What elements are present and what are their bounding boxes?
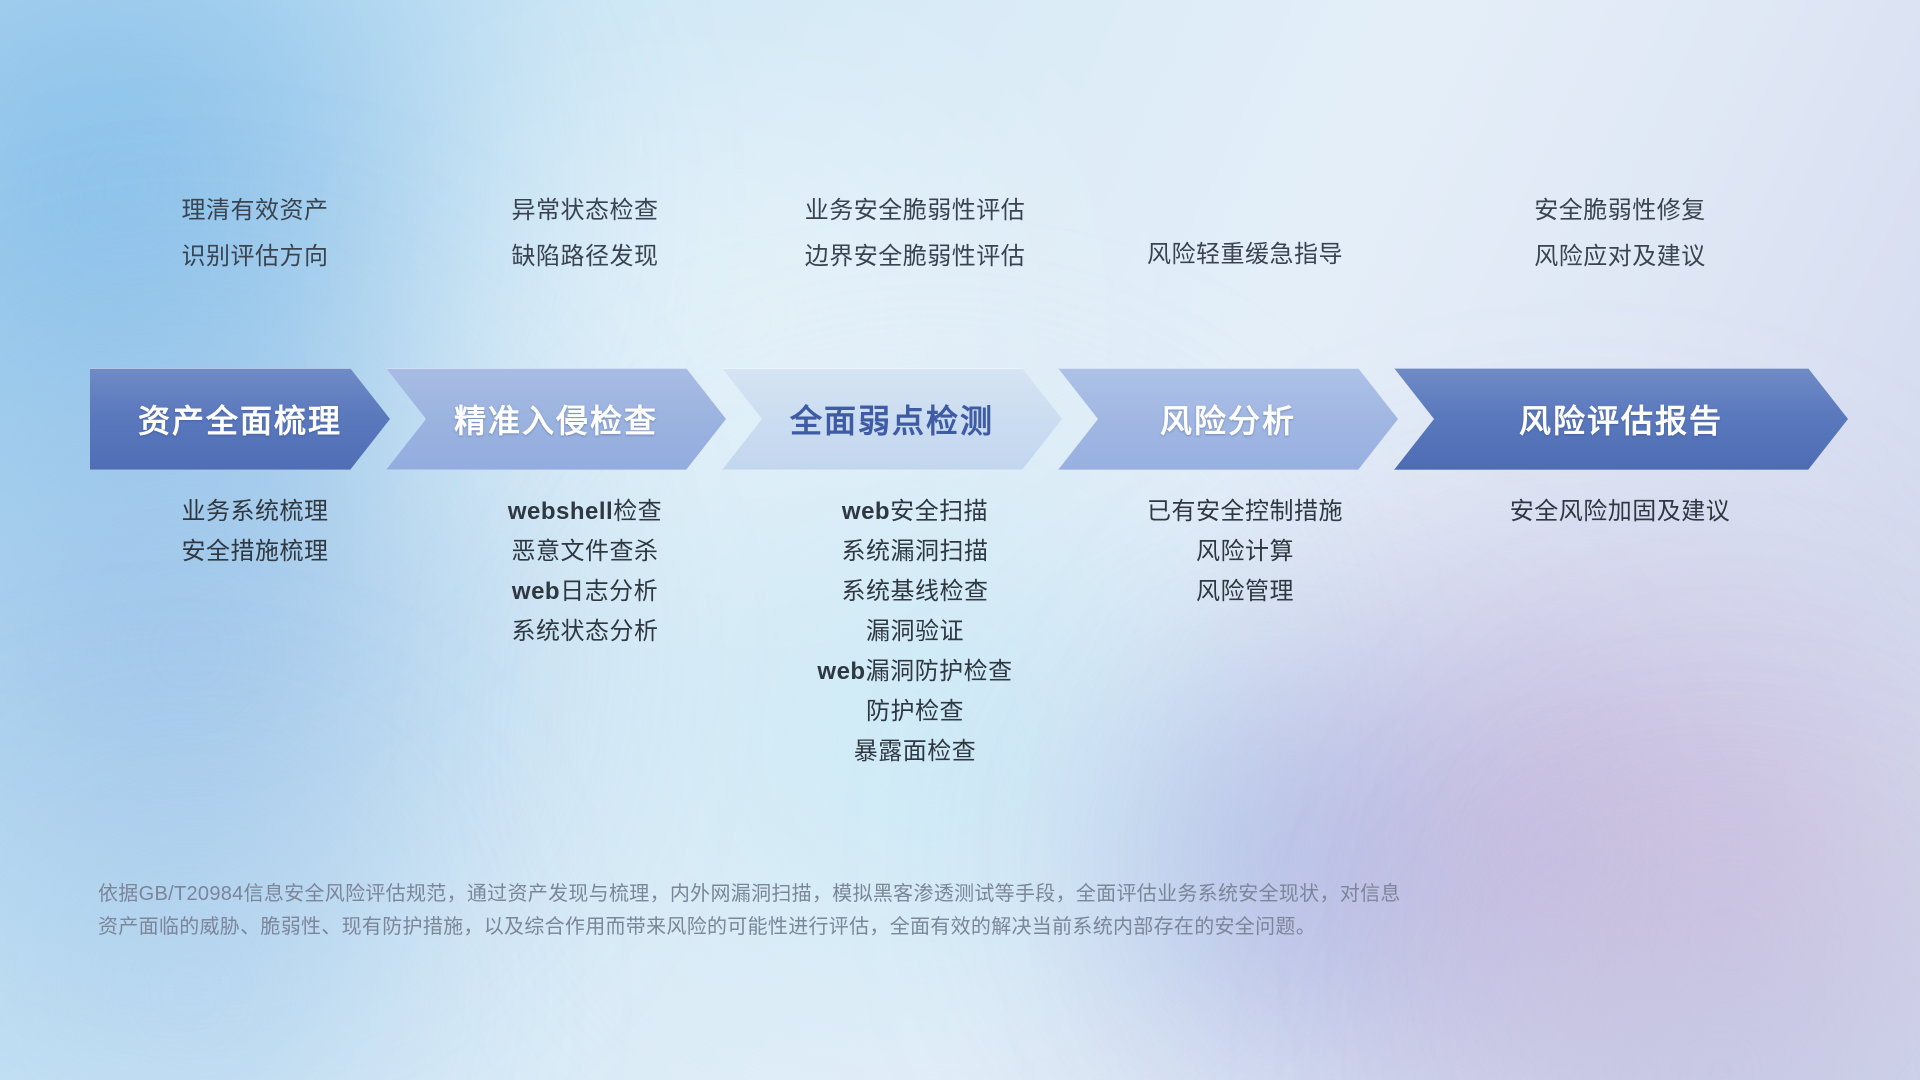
chevron-step-4-label: 风险分析 [1160, 396, 1296, 442]
top-item: 风险轻重缓急指导 [1080, 232, 1410, 278]
footer-line-2: 资产面临的威胁、脆弱性、现有防护措施，以及综合作用而带来风险的可能性进行评估，全… [98, 911, 1658, 944]
top-item: 识别评估方向 [90, 234, 420, 280]
bottom-item-cjk: 日志分析 [560, 578, 658, 605]
bottom-item-cjk: 已有安全控制措施 [1147, 498, 1343, 525]
bottom-item-cjk: 业务系统梳理 [182, 498, 329, 525]
bottom-item-cjk: 系统状态分析 [512, 618, 659, 645]
chevron-step-1[interactable]: 资产全面梳理 [90, 368, 390, 470]
top-items-column-2: 异常状态检查 缺陷路径发现 [420, 170, 750, 280]
bottom-item: webshell检查 [420, 492, 750, 532]
bottom-item: web漏洞防护检查 [750, 652, 1080, 692]
bottom-item: web安全扫描 [750, 492, 1080, 532]
top-item: 理清有效资产 [90, 188, 420, 234]
top-item: 安全脆弱性修复 [1410, 188, 1830, 234]
bottom-item-cjk: 系统基线检查 [842, 578, 989, 605]
bottom-item-latin: web [842, 498, 890, 525]
bottom-items-column-4: 已有安全控制措施 风险计算 风险管理 [1080, 492, 1410, 612]
bottom-item-list-2: webshell检查 恶意文件查杀 web日志分析 系统状态分析 [420, 492, 750, 652]
bottom-item: 安全措施梳理 [90, 532, 420, 572]
bottom-item-cjk: 安全措施梳理 [182, 538, 329, 565]
bottom-item-cjk: 防护检查 [866, 698, 964, 725]
chevron-step-5[interactable]: 风险评估报告 [1394, 368, 1848, 470]
bottom-item: 已有安全控制措施 [1080, 492, 1410, 532]
top-items-column-4: 风险轻重缓急指导 [1080, 170, 1410, 278]
top-items-column-1: 理清有效资产 识别评估方向 [90, 170, 420, 280]
top-item: 边界安全脆弱性评估 [750, 234, 1080, 280]
footer-line-1: 依据GB/T20984信息安全风险评估规范，通过资产发现与梳理，内外网漏洞扫描，… [98, 878, 1658, 911]
top-items-column-3: 业务安全脆弱性评估 边界安全脆弱性评估 [750, 170, 1080, 280]
bottom-item: 业务系统梳理 [90, 492, 420, 532]
bottom-item: 防护检查 [750, 692, 1080, 732]
bottom-item-cjk: 风险计算 [1196, 538, 1294, 565]
top-item: 业务安全脆弱性评估 [750, 188, 1080, 234]
bottom-item: 暴露面检查 [750, 732, 1080, 772]
chevron-step-5-label: 风险评估报告 [1519, 396, 1723, 442]
top-item: 风险应对及建议 [1410, 234, 1830, 280]
bottom-item-cjk: 系统漏洞扫描 [842, 538, 989, 565]
bottom-item-list-4: 已有安全控制措施 风险计算 风险管理 [1080, 492, 1410, 612]
chevron-step-4[interactable]: 风险分析 [1058, 368, 1398, 470]
bottom-item-latin: web [512, 578, 560, 605]
bottom-item: 系统漏洞扫描 [750, 532, 1080, 572]
bottom-items-column-5: 安全风险加固及建议 [1410, 492, 1830, 532]
bottom-item: 风险管理 [1080, 572, 1410, 612]
bottom-item: 系统状态分析 [420, 612, 750, 652]
chevron-step-3-label: 全面弱点检测 [790, 396, 994, 442]
chevron-step-1-label: 资产全面梳理 [138, 396, 342, 442]
top-item-list-3: 业务安全脆弱性评估 边界安全脆弱性评估 [750, 188, 1080, 280]
top-item-list-4: 风险轻重缓急指导 [1080, 188, 1410, 278]
top-item: 缺陷路径发现 [420, 234, 750, 280]
top-item-list-1: 理清有效资产 识别评估方向 [90, 188, 420, 280]
bottom-items-column-2: webshell检查 恶意文件查杀 web日志分析 系统状态分析 [420, 492, 750, 652]
top-item-list-2: 异常状态检查 缺陷路径发现 [420, 188, 750, 280]
bottom-item: 系统基线检查 [750, 572, 1080, 612]
top-item: 异常状态检查 [420, 188, 750, 234]
bottom-item-cjk: 安全风险加固及建议 [1510, 498, 1731, 525]
bottom-item-list-5: 安全风险加固及建议 [1410, 492, 1830, 532]
bottom-item-cjk: 恶意文件查杀 [512, 538, 659, 565]
bottom-items-row: 业务系统梳理 安全措施梳理 webshell检查 恶意文件查杀 web日志分析 [90, 492, 1830, 772]
bottom-item-cjk: 漏洞验证 [866, 618, 964, 645]
top-item-list-5: 安全脆弱性修复 风险应对及建议 [1410, 188, 1830, 280]
bottom-item-latin: web [817, 658, 865, 685]
bottom-item-cjk: 风险管理 [1196, 578, 1294, 605]
bottom-item-list-3: web安全扫描 系统漏洞扫描 系统基线检查 漏洞验证 web漏洞防护检查 防护检… [750, 492, 1080, 772]
bottom-item-cjk: 漏洞防护检查 [866, 658, 1013, 685]
bottom-items-column-1: 业务系统梳理 安全措施梳理 [90, 492, 420, 572]
chevron-step-2[interactable]: 精准入侵检查 [386, 368, 726, 470]
bottom-item-cjk: 检查 [613, 498, 662, 525]
bottom-item: web日志分析 [420, 572, 750, 612]
bottom-item: 风险计算 [1080, 532, 1410, 572]
footer-description: 依据GB/T20984信息安全风险评估规范，通过资产发现与梳理，内外网漏洞扫描，… [98, 878, 1658, 944]
top-items-column-5: 安全脆弱性修复 风险应对及建议 [1410, 170, 1830, 280]
bottom-item: 恶意文件查杀 [420, 532, 750, 572]
top-items-row: 理清有效资产 识别评估方向 异常状态检查 缺陷路径发现 业务安全脆弱性评估 边界… [90, 170, 1830, 350]
bottom-item-list-1: 业务系统梳理 安全措施梳理 [90, 492, 420, 572]
bottom-item: 漏洞验证 [750, 612, 1080, 652]
bottom-item: 安全风险加固及建议 [1410, 492, 1830, 532]
process-chevron-banner: 资产全面梳理 精准入侵检查 全面弱点检测 风险分析 风险评估报告 [90, 368, 1848, 470]
chevron-step-3[interactable]: 全面弱点检测 [722, 368, 1062, 470]
bottom-item-latin: webshell [508, 498, 613, 525]
bottom-item-cjk: 暴露面检查 [854, 738, 977, 765]
bottom-items-column-3: web安全扫描 系统漏洞扫描 系统基线检查 漏洞验证 web漏洞防护检查 防护检… [750, 492, 1080, 772]
bottom-item-cjk: 安全扫描 [890, 498, 988, 525]
chevron-step-2-label: 精准入侵检查 [454, 396, 658, 442]
